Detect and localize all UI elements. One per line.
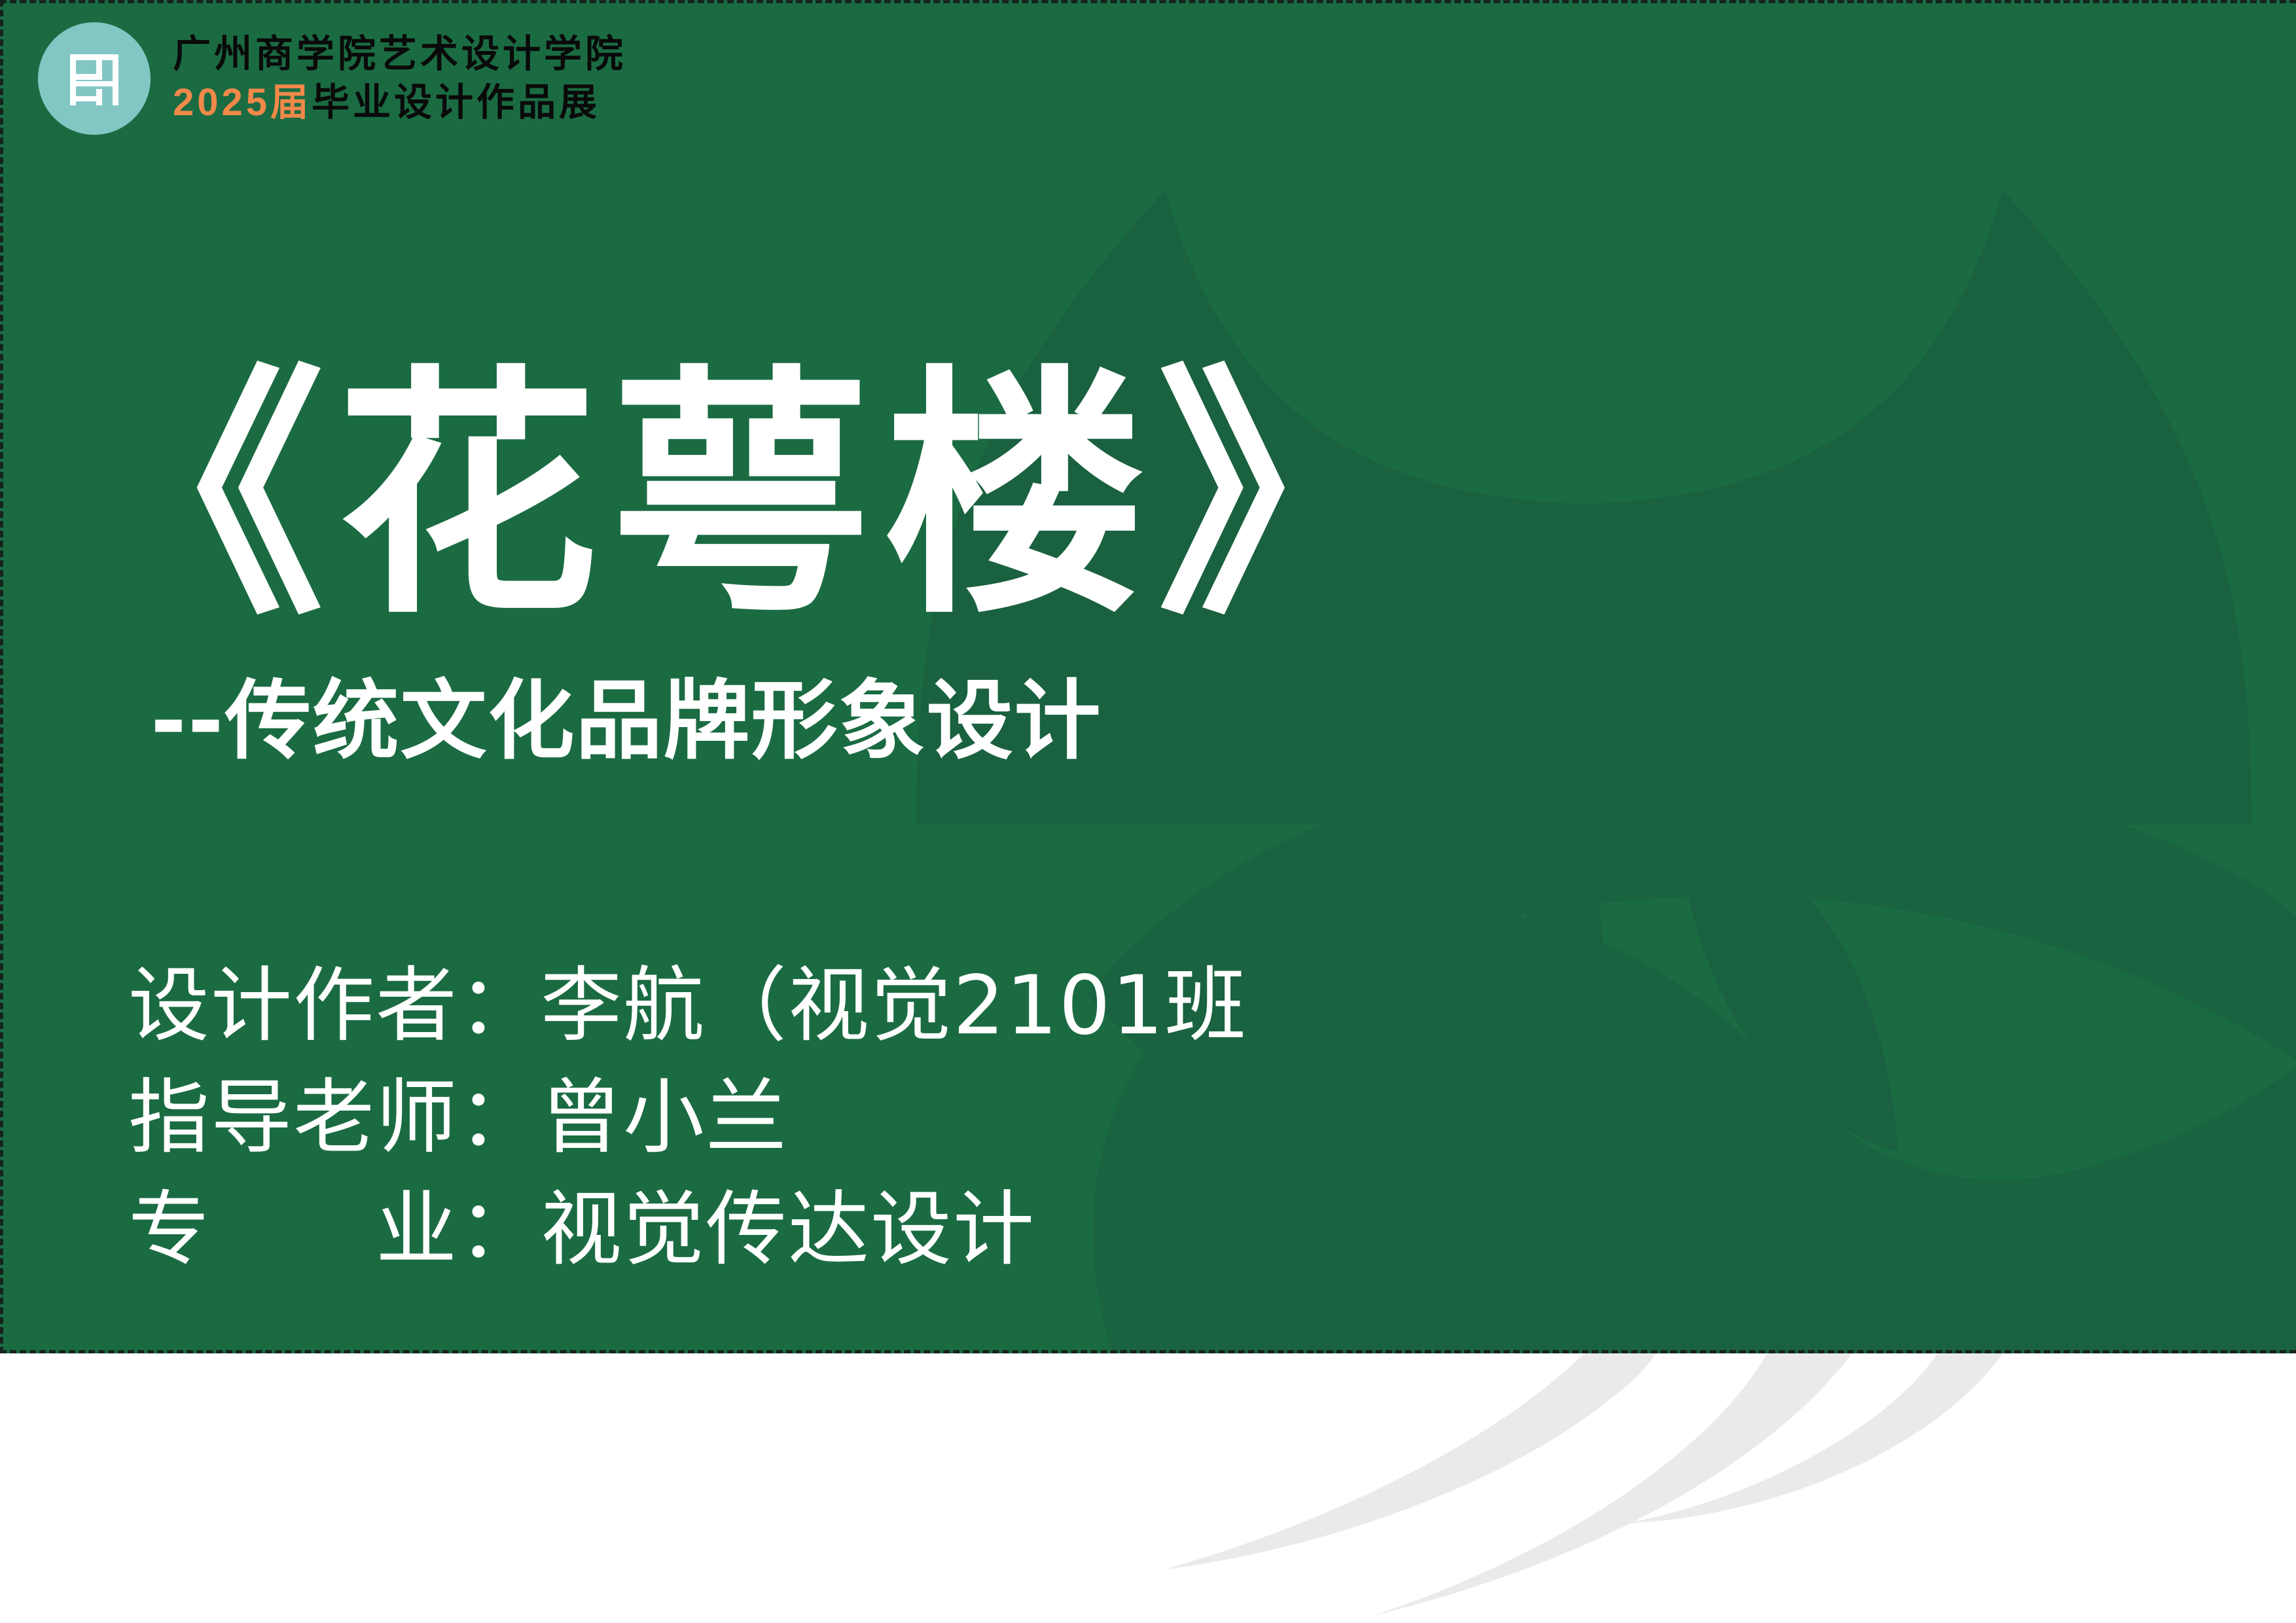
academy-emblem-icon (38, 22, 151, 135)
exhibition-year-accent: 2025届 (173, 81, 312, 124)
exhibition-name-rest: 毕业设计作品展 (312, 81, 600, 124)
green-panel: 广州商学院艺术设计学院 2025届毕业设计作品展 《花萼楼》 --传统文化品牌形… (0, 0, 2296, 1353)
poster-canvas: 广州商学院艺术设计学院 2025届毕业设计作品展 《花萼楼》 --传统文化品牌形… (0, 0, 2296, 1623)
credits-block: 设计作者：李航（视觉2101班 指导老师：曾小兰 专 业：视觉传达设计 (128, 950, 1247, 1286)
credit-author: 设计作者：李航（视觉2101班 (128, 950, 1247, 1062)
swoosh-shape (1165, 1353, 2003, 1615)
page-subtitle: --传统文化品牌形象设计 (0, 628, 2296, 776)
credit-major: 专 业：视觉传达设计 (128, 1174, 1247, 1286)
poster-header: 广州商学院艺术设计学院 2025届毕业设计作品展 (38, 22, 626, 135)
credit-advisor: 指导老师：曾小兰 (128, 1062, 1247, 1174)
bottom-white-band (0, 1353, 2296, 1623)
page-title: 《花萼楼》 (0, 366, 2296, 628)
academy-name-block: 广州商学院艺术设计学院 2025届毕业设计作品展 (173, 30, 626, 127)
title-block: 《花萼楼》 --传统文化品牌形象设计 (0, 366, 2296, 776)
exhibition-name-line: 2025届毕业设计作品展 (173, 79, 626, 127)
academy-name-line: 广州商学院艺术设计学院 (173, 30, 626, 79)
